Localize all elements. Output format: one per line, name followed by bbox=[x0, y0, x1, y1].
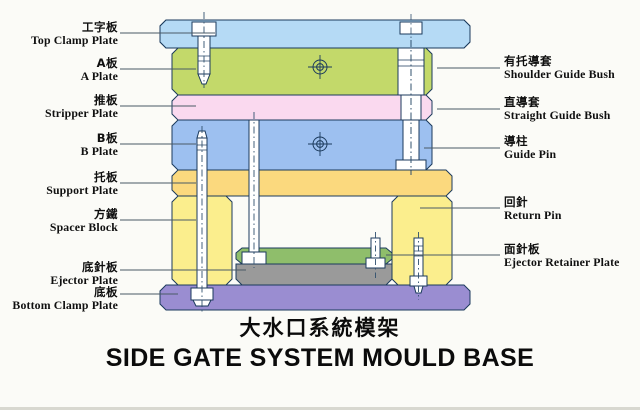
label-support-plate: 托板 Support Plate bbox=[46, 172, 118, 196]
label-shoulder-guide-bush: 有托導套 Shoulder Guide Bush bbox=[504, 56, 615, 80]
label-spacer-block: 方鐵 Spacer Block bbox=[50, 209, 118, 233]
label-b-plate-en: B Plate bbox=[81, 145, 118, 157]
label-stripper-plate: 推板 Stripper Plate bbox=[45, 95, 118, 119]
plate-a-plate bbox=[172, 48, 432, 95]
label-bottom-clamp-plate: 底板 Bottom Clamp Plate bbox=[12, 287, 118, 311]
label-spacer-block-en: Spacer Block bbox=[50, 221, 118, 233]
page-title-chinese: 大水口系統模架 bbox=[0, 312, 640, 342]
label-top-clamp-plate-en: Top Clamp Plate bbox=[31, 34, 118, 46]
label-ejector-retainer-plate: 面針板 Ejector Retainer Plate bbox=[504, 244, 620, 268]
label-return-pin: 回針 Return Pin bbox=[504, 197, 562, 221]
label-straight-guide-bush: 直導套 Straight Guide Bush bbox=[504, 97, 610, 121]
label-return-pin-en: Return Pin bbox=[504, 209, 562, 221]
label-stripper-plate-en: Stripper Plate bbox=[45, 107, 118, 119]
label-a-plate-en: A Plate bbox=[81, 70, 118, 82]
diagram-page: 工字板 Top Clamp Plate A板 A Plate 推板 Stripp… bbox=[0, 0, 640, 410]
plate-stripper-plate bbox=[172, 95, 432, 120]
label-a-plate: A板 A Plate bbox=[81, 58, 118, 82]
label-straight-guide-bush-en: Straight Guide Bush bbox=[504, 109, 610, 121]
label-ejector-plate: 底針板 Ejector Plate bbox=[50, 262, 118, 286]
label-bottom-clamp-plate-en: Bottom Clamp Plate bbox=[12, 299, 118, 311]
plate-support-plate bbox=[172, 170, 452, 196]
label-support-plate-en: Support Plate bbox=[46, 184, 118, 196]
label-shoulder-guide-bush-en: Shoulder Guide Bush bbox=[504, 68, 615, 80]
page-title: 大水口系統模架 SIDE GATE SYSTEM MOULD BASE bbox=[0, 312, 640, 373]
label-ejector-retainer-plate-en: Ejector Retainer Plate bbox=[504, 256, 620, 268]
plate-b-plate bbox=[172, 120, 432, 170]
label-top-clamp-plate: 工字板 Top Clamp Plate bbox=[31, 22, 118, 46]
page-title-english: SIDE GATE SYSTEM MOULD BASE bbox=[0, 344, 640, 373]
label-guide-pin-en: Guide Pin bbox=[504, 148, 556, 160]
label-guide-pin: 導柱 Guide Pin bbox=[504, 136, 556, 160]
label-b-plate: B板 B Plate bbox=[81, 133, 118, 157]
